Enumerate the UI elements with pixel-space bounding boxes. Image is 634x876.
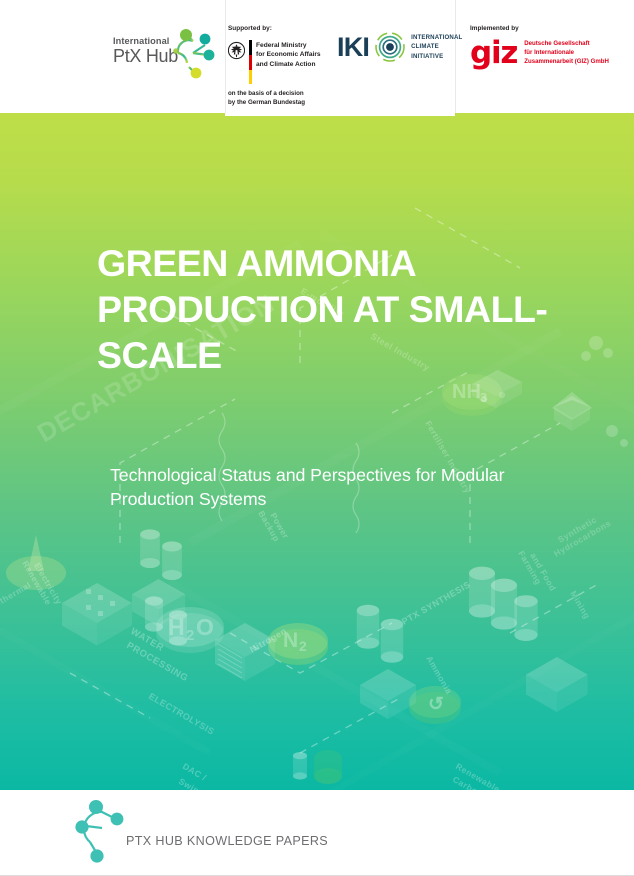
molecule-nodes-icon <box>72 798 134 866</box>
giz-name-line-2: für Internationale <box>524 48 609 57</box>
iki-sub-line-2: CLIMATE <box>411 42 462 51</box>
german-federal-eagle-icon <box>228 41 245 60</box>
giz-logo[interactable]: giz Deutsche Gesellschaft für Internatio… <box>470 39 609 66</box>
background-isometric-artwork: H 2 O N 2 NH 3 ↺ <box>0 113 634 790</box>
giz-name-line-3: Zusammenarbeit (GIZ) GmbH <box>524 57 609 66</box>
knowledge-papers-brand[interactable]: PTX HUB KNOWLEDGE PAPERS <box>72 798 328 866</box>
federal-ministry-name: Federal Ministry for Economic Affairs an… <box>256 40 321 69</box>
concentric-rings-icon <box>375 32 405 62</box>
svg-text:Swing Adsorption: Swing Adsorption <box>177 776 252 790</box>
partner-logo-row: International PtX Hub <box>0 0 634 113</box>
svg-text:PTX SYNTHESIS: PTX SYNTHESIS <box>400 579 472 626</box>
iki-logo[interactable]: IKI INTERNATIONAL CLIMATE INITIATIVE <box>337 32 462 62</box>
header-divider-left <box>225 0 226 113</box>
implemented-by-block: Implemented by giz Deutsche Gesellschaft… <box>470 25 609 66</box>
cover-page: H 2 O N 2 NH 3 ↺ <box>0 0 634 876</box>
iki-subtitle: INTERNATIONAL CLIMATE INITIATIVE <box>411 33 462 61</box>
ministry-line-1: Federal Ministry <box>256 41 321 50</box>
svg-text:Mining: Mining <box>568 589 592 621</box>
page-title: GREEN AMMONIA PRODUCTION AT SMALL-SCALE <box>97 240 577 378</box>
page-subtitle: Technological Status and Perspectives fo… <box>110 463 540 512</box>
hero-gradient-panel: H 2 O N 2 NH 3 ↺ <box>0 113 634 790</box>
ministry-line-3: and Climate Action <box>256 60 321 69</box>
iki-sub-line-3: INITIATIVE <box>411 52 462 61</box>
iki-wordmark: IKI <box>337 34 369 61</box>
iki-sub-line-1: INTERNATIONAL <box>411 33 462 42</box>
international-ptx-hub-logo[interactable]: International PtX Hub <box>113 33 213 81</box>
knowledge-papers-label: PTX HUB KNOWLEDGE PAPERS <box>126 834 328 848</box>
german-flag-bar <box>249 40 252 84</box>
svg-text:2: 2 <box>186 627 194 644</box>
svg-text:2: 2 <box>299 638 307 654</box>
logo-header-band: International PtX Hub <box>0 0 634 113</box>
giz-wordmark: giz <box>470 41 517 65</box>
bundestag-line-2: by the German Bundestag <box>228 99 305 108</box>
supported-by-block: Supported by: Federal Ministry for Econo… <box>228 25 340 84</box>
molecule-nodes-icon <box>169 29 217 79</box>
supported-by-label: Supported by: <box>228 25 340 32</box>
svg-text:ELECTROLYSIS: ELECTROLYSIS <box>147 691 216 737</box>
bundestag-line-1: on the basis of a decision <box>228 90 305 99</box>
svg-text:O: O <box>196 614 214 640</box>
svg-text:↺: ↺ <box>428 694 444 715</box>
giz-full-name: Deutsche Gesellschaft für Internationale… <box>524 39 609 66</box>
header-center-notch <box>225 113 455 116</box>
bundestag-decision-note: on the basis of a decision by the German… <box>228 90 305 107</box>
federal-ministry-logo[interactable]: Federal Ministry for Economic Affairs an… <box>228 40 340 84</box>
footer-band: PTX HUB KNOWLEDGE PAPERS <box>0 790 634 876</box>
implemented-by-label: Implemented by <box>470 25 609 32</box>
cover-title-block: GREEN AMMONIA PRODUCTION AT SMALL-SCALE <box>97 240 577 378</box>
giz-name-line-1: Deutsche Gesellschaft <box>524 39 609 48</box>
ministry-line-2: for Economic Affairs <box>256 50 321 59</box>
